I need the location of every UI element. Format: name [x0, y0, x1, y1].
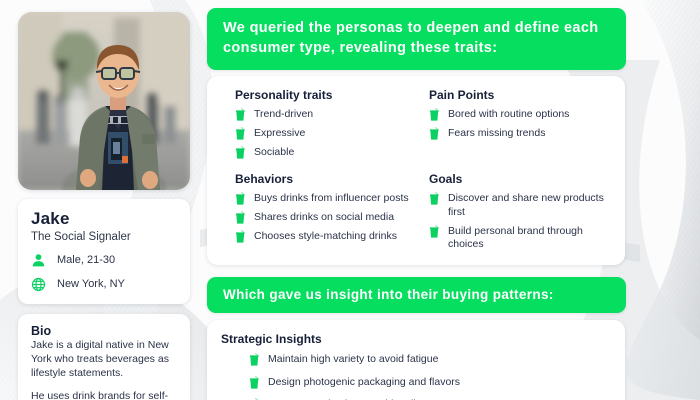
persona-name: Jake [31, 210, 177, 229]
person-icon [31, 253, 46, 268]
insights-title: Strategic Insights [221, 332, 611, 346]
group-goals: Goals Discover and share new products fi… [429, 172, 611, 251]
list-item-text: Expressive [254, 127, 305, 140]
list-item-text: Sociable [254, 146, 294, 159]
list-item-text: Shares drinks on social media [254, 211, 394, 224]
bio-paragraph: He uses drink brands for self-expression… [31, 390, 177, 400]
list-item-text: Trend-driven [254, 108, 313, 121]
traits-panel: Personality traits Trend-driven [207, 76, 625, 265]
drink-cup-icon [235, 108, 246, 121]
list-item: Sociable [235, 146, 423, 159]
group-pain-points: Pain Points Bored with routine options [429, 88, 611, 140]
list-item-text: Buys drinks from influencer posts [254, 192, 409, 205]
globe-icon [31, 277, 46, 292]
drink-cup-icon [235, 211, 246, 224]
drink-cup-icon [429, 225, 440, 238]
drink-cup-icon [429, 108, 440, 121]
group-title: Pain Points [429, 88, 611, 102]
insights-column: We queried the personas to deepen and de… [207, 8, 627, 400]
traits-banner: We queried the personas to deepen and de… [207, 8, 626, 70]
persona-location-row: New York, NY [31, 277, 177, 292]
list-item: Chooses style-matching drinks [235, 230, 423, 243]
persona-role: The Social Signaler [31, 231, 177, 245]
list-item-text: Design photogenic packaging and flavors [268, 376, 460, 389]
persona-demographics-row: Male, 21-30 [31, 253, 177, 268]
drink-cup-icon [235, 192, 246, 205]
list-item: Buys drinks from influencer posts [235, 192, 423, 205]
persona-demographics-text: Male, 21-30 [57, 254, 115, 267]
group-personality-traits: Personality traits Trend-driven [235, 88, 423, 159]
persona-column: Jake The Social Signaler Male, 21-30 [18, 12, 190, 400]
list-item: Design photogenic packaging and flavors [249, 376, 611, 389]
list-item-text: Fears missing trends [448, 127, 545, 140]
persona-identity-card: Jake The Social Signaler Male, 21-30 [18, 199, 190, 304]
drink-cup-icon [249, 353, 260, 366]
drink-cup-icon [235, 127, 246, 140]
list-item-text: Chooses style-matching drinks [254, 230, 397, 243]
drink-cup-icon [429, 127, 440, 140]
group-title: Behaviors [235, 172, 423, 186]
list-item-text: Discover and share new products first [448, 192, 611, 218]
list-item: Trend-driven [235, 108, 423, 121]
group-title: Goals [429, 172, 611, 186]
drink-cup-icon [235, 230, 246, 243]
drink-cup-icon [249, 376, 260, 389]
list-item: Bored with routine options [429, 108, 611, 121]
list-item: Build personal brand through choices [429, 225, 611, 251]
persona-insight-slide: Jake The Social Signaler Male, 21-30 [0, 0, 700, 400]
list-item-text: Maintain high variety to avoid fatigue [268, 353, 438, 366]
persona-photo [18, 12, 190, 190]
bio-paragraph: Jake is a digital native in New York who… [31, 339, 177, 381]
traits-right-column: Pain Points Bored with routine options [423, 88, 611, 251]
insights-banner: Which gave us insight into their buying … [207, 277, 626, 314]
drink-cup-icon [235, 146, 246, 159]
list-item-text: Bored with routine options [448, 108, 569, 121]
traits-left-column: Personality traits Trend-driven [235, 88, 423, 251]
list-item: Discover and share new products first [429, 192, 611, 218]
drink-cup-icon [429, 192, 440, 205]
strategic-insights-panel: Strategic Insights Maintain high variety… [207, 320, 625, 400]
list-item: Expressive [235, 127, 423, 140]
bio-title: Bio [31, 324, 177, 338]
list-item-text: Build personal brand through choices [448, 225, 611, 251]
group-behaviors: Behaviors Buys drinks from influencer po… [235, 172, 423, 243]
persona-bio-card: Bio Jake is a digital native in New York… [18, 314, 190, 400]
group-title: Personality traits [235, 88, 423, 102]
list-item: Maintain high variety to avoid fatigue [249, 353, 611, 366]
persona-location-text: New York, NY [57, 278, 125, 291]
list-item: Fears missing trends [429, 127, 611, 140]
list-item: Shares drinks on social media [235, 211, 423, 224]
